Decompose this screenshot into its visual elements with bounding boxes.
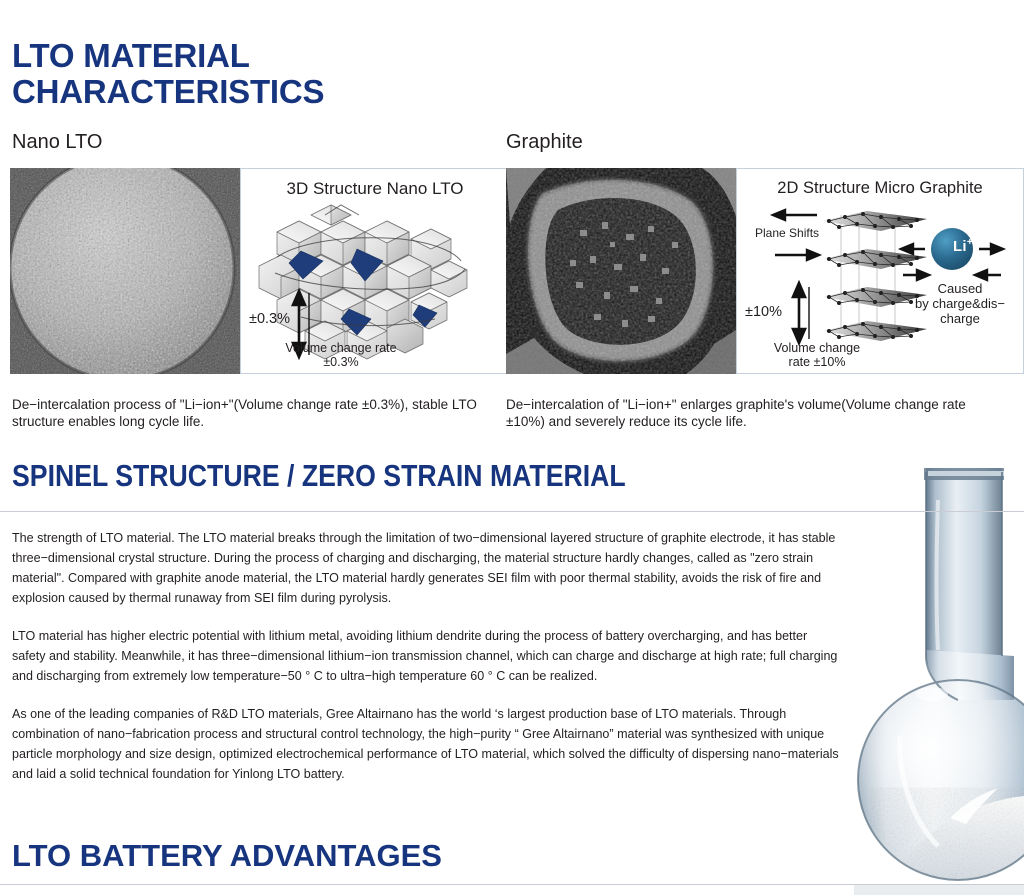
volume-change-caption-right: Volume change rate ±10% (737, 341, 897, 369)
panel-2d-structure-graphite: 2D Structure Micro Graphite (736, 168, 1024, 374)
page-title-line1: LTO MATERIAL (12, 38, 324, 74)
caption-graphite: De−intercalation of "Li−ion+" enlarges g… (506, 396, 984, 430)
sem-image-nano-lto (10, 168, 240, 374)
lithium-ion-label: Li+ (941, 237, 985, 255)
body-paragraph-1: The strength of LTO material. The LTO ma… (12, 528, 844, 608)
volume-change-value-right: ±10% (745, 304, 782, 320)
volume-change-caption-left-line2: ±0.3% (241, 355, 441, 369)
panel-3d-structure-nano-lto: 3D Structure Nano LTO (240, 168, 510, 374)
section-heading-spinel: SPINEL STRUCTURE / ZERO STRAIN MATERIAL (12, 458, 626, 494)
divider-advantages (0, 884, 1024, 885)
flask-image (854, 460, 1024, 895)
flask-graphic (854, 460, 1024, 895)
column-label-nano-lto: Nano LTO (12, 131, 102, 154)
column-label-graphite: Graphite (506, 131, 583, 154)
volume-change-caption-left: Volume change rate ±0.3% (241, 341, 441, 369)
volume-change-arrow-right (793, 283, 809, 343)
volume-change-value-left: ±0.3% (249, 311, 290, 327)
divider-spinel (0, 511, 1024, 512)
page-title: LTO MATERIAL CHARACTERISTICS (12, 38, 324, 110)
lto-material-page: LTO MATERIAL CHARACTERISTICS Nano LTO Gr… (0, 0, 1024, 895)
plane-shifts-label: Plane Shifts (755, 226, 819, 240)
volume-change-caption-right-line1: Volume change (737, 341, 897, 355)
cause-note-line1: Caused (905, 281, 1015, 296)
body-paragraph-3: As one of the leading companies of R&D L… (12, 704, 844, 784)
body-copy: The strength of LTO material. The LTO ma… (12, 528, 874, 802)
section-heading-advantages: LTO BATTERY ADVANTAGES (12, 838, 442, 874)
caption-nano-lto: De−intercalation process of "Li−ion+"(Vo… (12, 396, 492, 430)
volume-change-caption-right-line2: rate ±10% (737, 355, 897, 369)
volume-change-caption-left-line1: Volume change rate (241, 341, 441, 355)
sem-nano-lto-graphic (10, 168, 240, 374)
sem-image-graphite (506, 168, 736, 374)
page-title-line2: CHARACTERISTICS (12, 74, 324, 110)
cause-note: Caused by charge&dis− charge (905, 281, 1015, 326)
cause-note-line2: by charge&dis− (905, 296, 1015, 311)
cause-note-line3: charge (905, 311, 1015, 326)
body-paragraph-2: LTO material has higher electric potenti… (12, 626, 844, 686)
sem-graphite-graphic (506, 168, 736, 374)
